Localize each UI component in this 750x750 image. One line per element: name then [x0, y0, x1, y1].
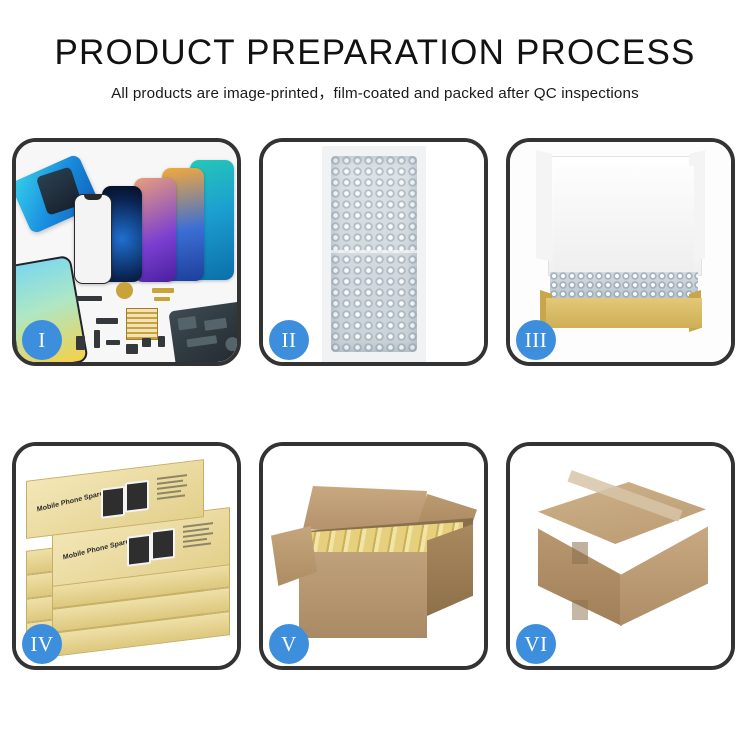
part-flex-cable-2	[94, 330, 100, 348]
part-speaker-mesh	[76, 296, 102, 301]
step-badge-5: V	[269, 624, 309, 664]
carton-handle-tab-top	[572, 542, 588, 564]
step-badge-3: III	[516, 320, 556, 360]
part-button-set	[126, 344, 138, 354]
step-badge-2: II	[269, 320, 309, 360]
retail-box-screen-image-2	[151, 528, 175, 561]
part-flex-cable-3	[106, 340, 120, 345]
carton-handle-tab-bottom	[572, 600, 588, 620]
part-flex-gold-1	[152, 288, 174, 293]
part-small-bracket	[76, 336, 85, 350]
part-gold-coil	[116, 282, 133, 299]
part-flex-gold-2	[154, 297, 170, 301]
phone-screen-white	[74, 194, 112, 284]
inner-box-lid-flap-left	[536, 150, 552, 261]
inner-box-front	[546, 298, 702, 328]
retail-box-screen-image-3	[101, 486, 125, 519]
step-badge-4: IV	[22, 624, 62, 664]
step-panel-4: Mobile Phone Spare Parts Mobile Phone Sp…	[12, 442, 241, 670]
phone-mainboard	[168, 301, 237, 362]
retail-box-screen-image-1	[127, 534, 151, 567]
page-title: PRODUCT PREPARATION PROCESS	[0, 32, 750, 74]
step-panel-6: VI	[506, 442, 735, 670]
spare-parts-group	[76, 278, 237, 362]
white-foam-sheet	[554, 166, 694, 270]
bubble-wrapped-contents	[550, 272, 698, 300]
process-steps-grid: I II III	[12, 138, 738, 670]
bubble-wrap-seam	[331, 250, 417, 253]
part-connector-grid	[126, 308, 158, 340]
part-sim-tray	[158, 336, 165, 347]
carton-front	[299, 552, 427, 638]
step-panel-5: V	[259, 442, 488, 670]
step-panel-1: I	[12, 138, 241, 366]
part-camera-module	[142, 338, 151, 347]
bubble-wrap-sheet	[331, 156, 417, 352]
step-panel-3: III	[506, 138, 735, 366]
step-badge-6: VI	[516, 624, 556, 664]
page-header: PRODUCT PREPARATION PROCESS All products…	[0, 0, 750, 103]
retail-box-screen-image-4	[125, 480, 149, 513]
step-badge-1: I	[22, 320, 62, 360]
part-flex-cable-1	[96, 318, 118, 324]
phone-screen-fan	[68, 156, 237, 286]
page-subtitle: All products are image-printed，film-coat…	[0, 81, 750, 103]
step-panel-2: II	[259, 138, 488, 366]
